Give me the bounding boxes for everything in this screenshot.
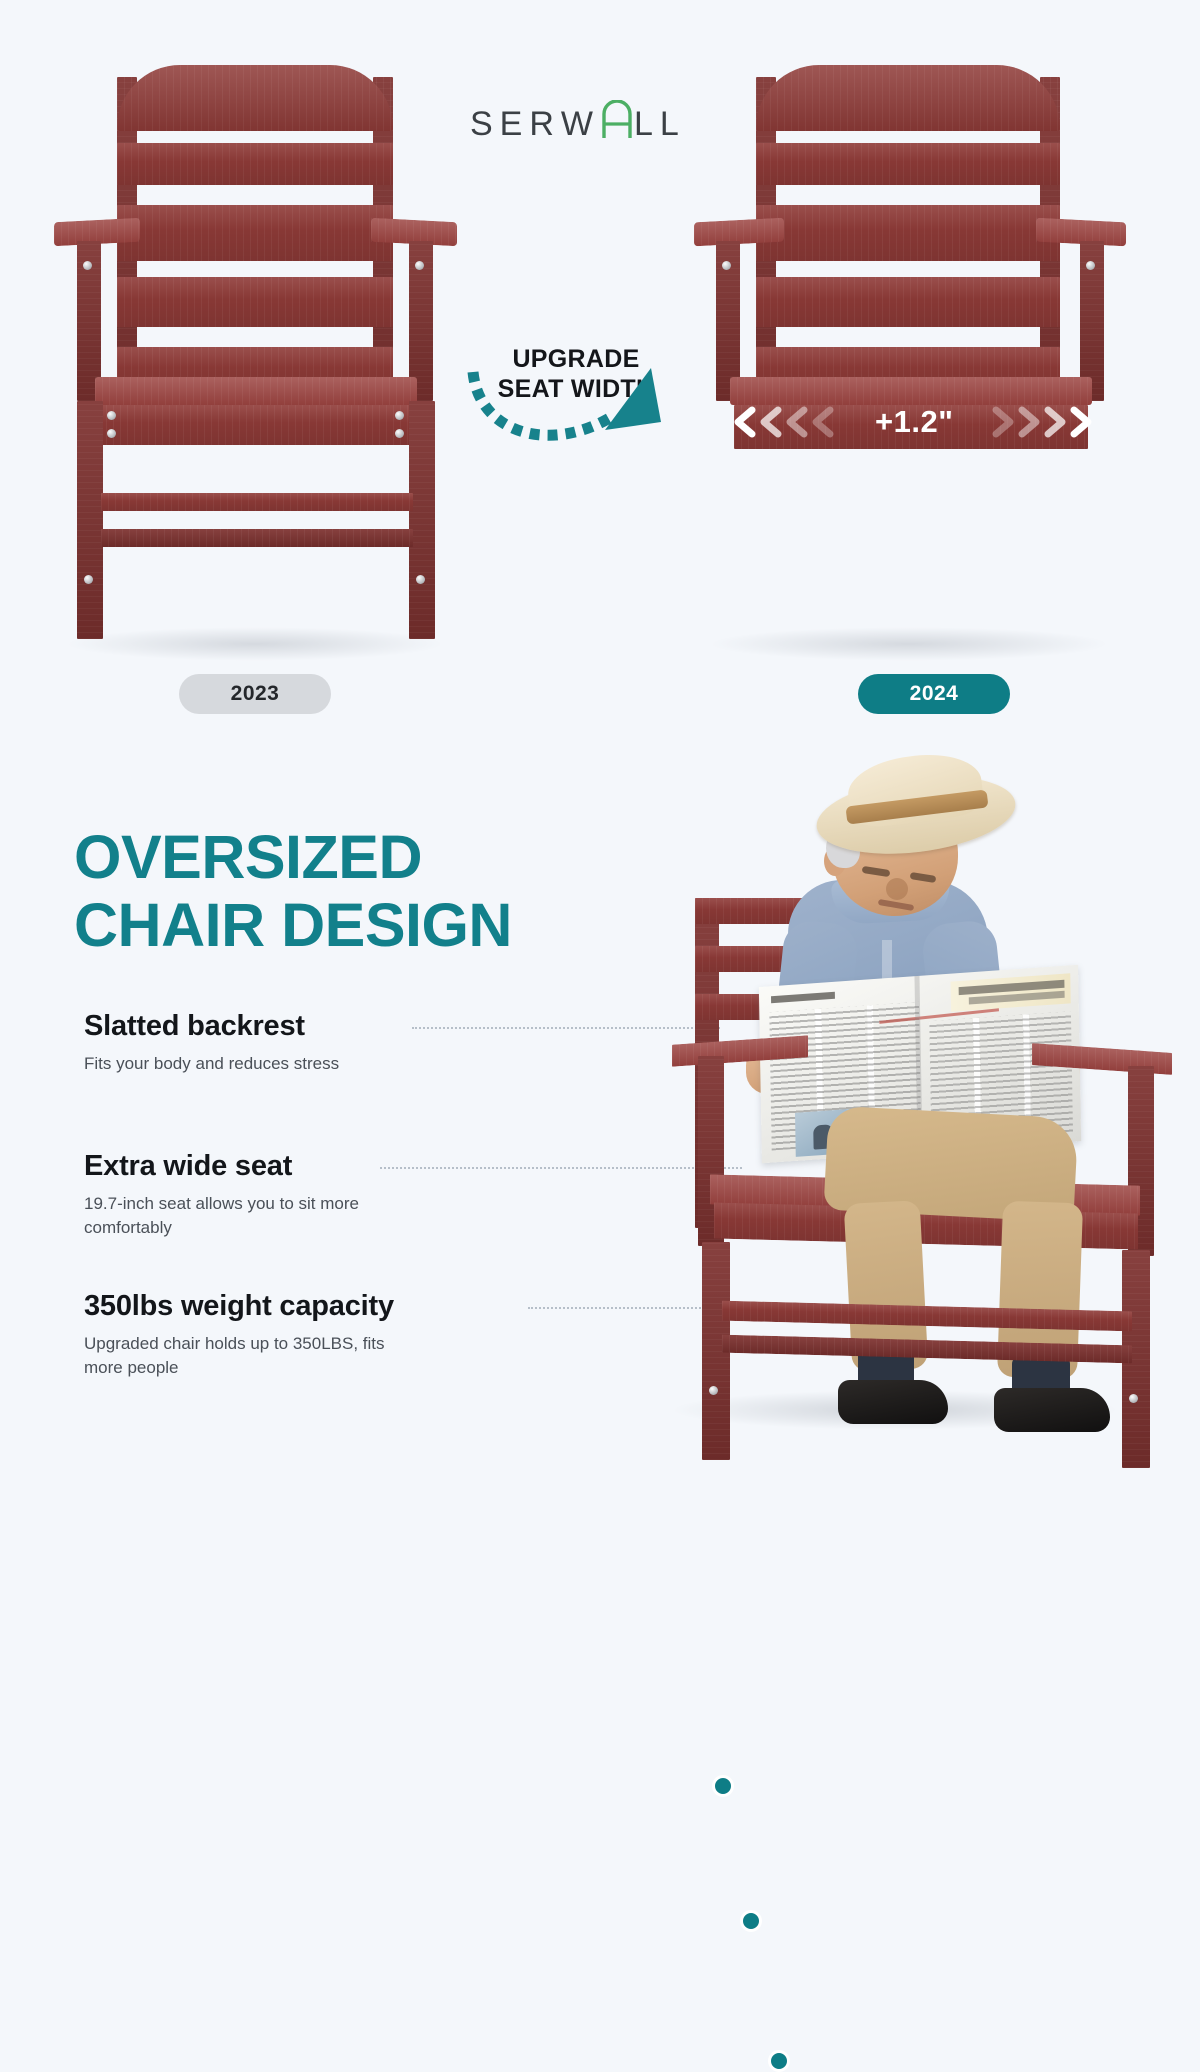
seat-width-delta-label: +1.2" [875,404,953,440]
chair-2024-seat [730,377,1092,405]
feature-description: Upgraded chair holds up to 350LBS, fits … [84,1332,414,1380]
chair-2023 [55,55,455,655]
photo-man-shoe-right [994,1388,1110,1432]
chevron-right-fade-icon [988,404,1096,440]
curved-dashed-arrow-up-right-icon [455,330,705,460]
serwall-logo: SER W LL [470,100,686,149]
feature-item-weight-capacity: 350lbs weight capacity Upgraded chair ho… [84,1290,414,1380]
chair-2023-top-rail [117,65,393,131]
comparison-section: SER W LL [0,0,1200,750]
callout-dot-icon-2 [740,1910,762,1932]
year-badge-2023: 2023 [179,674,331,714]
chevron-left-fade-icon [730,404,838,440]
photo-man-shoe-left [838,1380,948,1424]
page-headline: OVERSIZED CHAIR DESIGN [74,823,512,960]
callout-dot-icon-1 [712,1775,734,1797]
feature-description: 19.7-inch seat allows you to sit more co… [84,1192,414,1240]
chair-2023-seat-apron [99,405,413,445]
feature-title: Slatted backrest [84,1010,339,1043]
logo-text-ser: SER [470,105,561,144]
lifestyle-photo [610,750,1200,1500]
feature-description: Fits your body and reduces stress [84,1052,339,1076]
year-badge-2024: 2024 [858,674,1010,714]
feature-section: OVERSIZED CHAIR DESIGN Slatted backrest … [0,750,1200,1500]
feature-title: 350lbs weight capacity [84,1290,414,1323]
logo-text-w: W [561,105,600,144]
headline-line-2: CHAIR DESIGN [74,891,512,959]
headline-line-1: OVERSIZED [74,823,512,891]
logo-text-ll: LL [634,105,686,144]
feature-item-slatted-backrest: Slatted backrest Fits your body and redu… [84,1010,339,1076]
chair-2023-seat [95,377,417,405]
product-infographic: SER W LL [0,0,1200,1500]
feature-title: Extra wide seat [84,1150,414,1183]
chair-2024-top-rail [756,65,1060,131]
feature-item-extra-wide-seat: Extra wide seat 19.7-inch seat allows yo… [84,1150,414,1240]
callout-dot-icon-3 [768,2050,790,2072]
photo-man-nose [886,878,908,900]
serwall-arch-logo-icon [600,100,634,149]
chair-2024 [700,55,1120,655]
